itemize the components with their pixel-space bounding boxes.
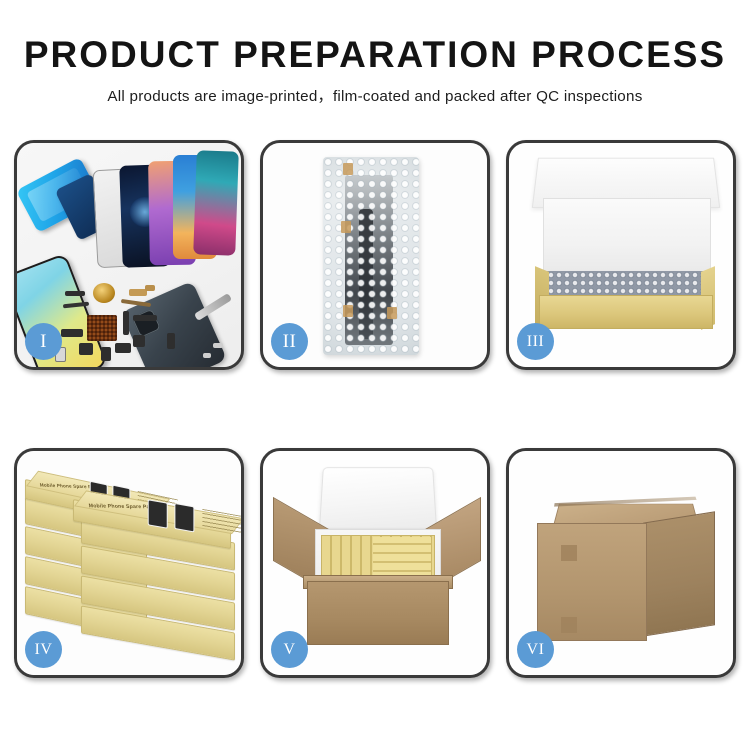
page-title: PRODUCT PREPARATION PROCESS [0, 36, 750, 75]
small-part-6 [61, 329, 83, 337]
carton-front-face [537, 523, 647, 641]
step-badge-6: VI [517, 631, 554, 668]
process-step-grid: I II [14, 140, 736, 678]
tape-bottom-right [387, 307, 397, 319]
box-front-panel [539, 295, 713, 329]
product-preparation-infographic: PRODUCT PREPARATION PROCESS All products… [0, 0, 750, 750]
process-step-panel-1[interactable]: I [14, 140, 244, 370]
tape-middle [341, 221, 351, 233]
box-stack: Mobile Phone Spare Parts Mobile Phone Sp… [25, 473, 237, 663]
small-part-7 [79, 343, 93, 355]
foam-sheet [543, 198, 711, 275]
small-part-8 [101, 347, 111, 361]
small-part-11 [133, 335, 145, 347]
tape-top [343, 163, 353, 175]
bubble-texture [323, 157, 419, 355]
small-part-14 [203, 353, 211, 358]
box-screen-thumb-front-1 [148, 499, 168, 529]
small-part-13 [213, 343, 223, 348]
carton-front-panel [307, 581, 449, 645]
small-part-4 [123, 311, 129, 335]
small-part-12 [167, 333, 175, 349]
process-step-panel-2[interactable]: II [260, 140, 490, 370]
small-part-9 [115, 343, 131, 353]
tape-bottom-left [343, 305, 353, 317]
step-badge-4: IV [25, 631, 62, 668]
carton-tab-upper [561, 545, 577, 561]
process-step-panel-3[interactable]: III [506, 140, 736, 370]
carton-right-face [643, 511, 715, 636]
yellow-boxes-row-2 [373, 537, 431, 579]
speaker-component [93, 283, 115, 303]
box-screen-thumb-front-2 [174, 503, 194, 533]
foam-lid-open [319, 467, 437, 529]
small-part-1 [65, 291, 85, 296]
carton-tab-lower [561, 617, 577, 633]
small-part-3 [145, 285, 155, 291]
process-step-panel-5[interactable]: V [260, 448, 490, 678]
step-badge-1: I [25, 323, 62, 360]
process-step-panel-4[interactable]: Mobile Phone Spare Parts Mobile Phone Sp… [14, 448, 244, 678]
header: PRODUCT PREPARATION PROCESS All products… [0, 36, 750, 106]
box-spec-lines-front [202, 509, 241, 534]
bubble-wrap-bag [323, 157, 419, 355]
small-part-5 [133, 315, 157, 321]
step-badge-3: III [517, 323, 554, 360]
shipping-carton [531, 477, 717, 649]
step-badge-5: V [271, 631, 308, 668]
step-badge-2: II [271, 323, 308, 360]
process-step-panel-6[interactable]: VI [506, 448, 736, 678]
page-subtitle: All products are image-printed，film-coat… [0, 84, 750, 106]
chip-component [87, 315, 117, 341]
phone-screen-teal-magenta [193, 150, 239, 255]
